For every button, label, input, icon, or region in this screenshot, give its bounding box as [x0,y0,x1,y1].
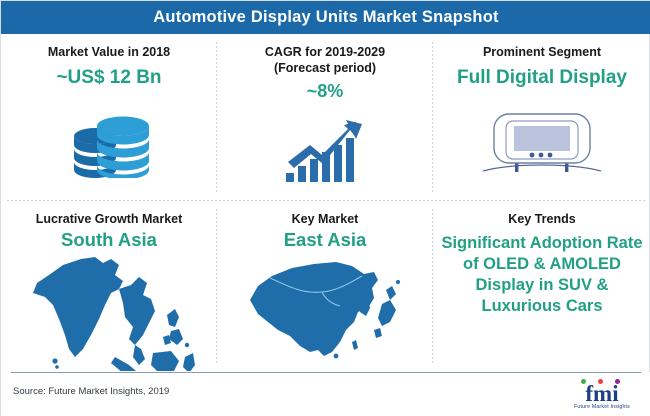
card-lucrative-growth-market: Lucrative Growth Market South Asia [1,201,217,372]
fmi-logo: fmi Future Market Insights [563,377,641,413]
card-value: East Asia [284,229,367,251]
card-icon-wrap [433,89,650,200]
card-value: South Asia [61,229,157,251]
cards-row-1: Market Value in 2018 ~US$ 12 Bn [1,34,650,200]
card-icon-wrap [1,89,217,200]
card-icon-wrap [217,102,433,200]
card-title: Key Trends [508,212,575,227]
card-prominent-segment: Prominent Segment Full Digital Display [433,34,650,200]
infographic-page: Automotive Display Units Market Snapshot… [0,0,650,416]
card-icon-wrap [1,251,217,372]
card-key-market: Key Market East Asia [217,201,433,372]
logo-tagline: Future Market Insights [563,404,641,410]
card-title: Key Market [292,212,359,227]
footer: Source: Future Market Insights, 2019 fmi… [1,372,650,416]
card-title-line1: CAGR for 2019-2029 [265,45,385,60]
east-asia-map-icon [240,256,410,368]
card-title: Prominent Segment [483,45,601,60]
header-bar: Automotive Display Units Market Snapshot [1,1,650,34]
cards-grid: Market Value in 2018 ~US$ 12 Bn [1,34,650,372]
card-value: ~8% [307,80,344,102]
page-title: Automotive Display Units Market Snapshot [153,8,498,27]
card-key-trends: Key Trends Significant Adoption Rate of … [433,201,650,372]
card-icon-wrap [217,251,433,372]
card-title-line2: (Forecast period) [274,61,376,76]
footer-divider [11,372,641,373]
card-title: Lucrative Growth Market [36,212,183,227]
card-value: ~US$ 12 Bn [56,67,161,89]
card-value: Significant Adoption Rate of OLED & AMOL… [433,233,650,317]
source-note: Source: Future Market Insights, 2019 [13,386,169,397]
logo-wordmark: fmi [563,382,641,405]
card-value: Full Digital Display [457,67,627,89]
card-cagr: CAGR for 2019-2029 (Forecast period) ~8% [217,34,433,200]
card-title: Market Value in 2018 [48,45,170,60]
growth-bar-chart-icon [284,118,366,184]
coin-stack-icon [61,112,157,178]
south-asia-map-icon [19,253,199,371]
cards-row-2: Lucrative Growth Market South Asia [1,201,650,372]
card-market-value: Market Value in 2018 ~US$ 12 Bn [1,34,217,200]
headrest-display-icon [479,109,605,181]
